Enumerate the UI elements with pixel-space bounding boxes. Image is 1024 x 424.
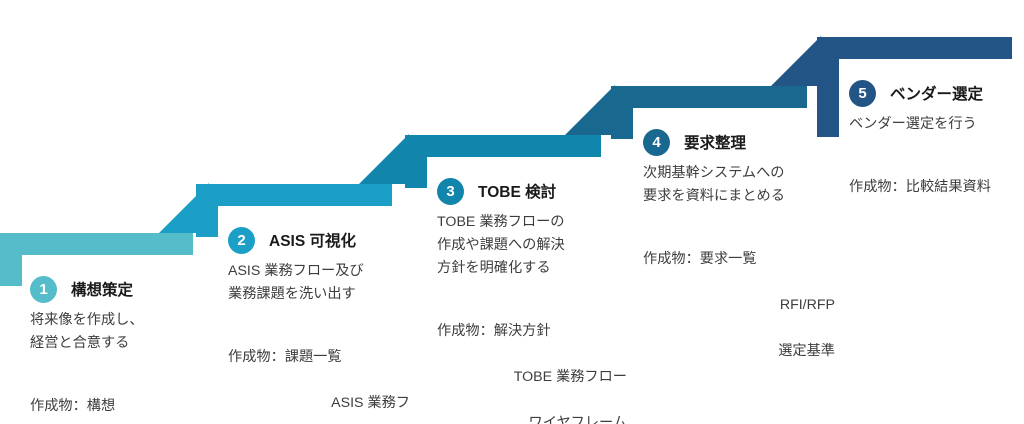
step-5-number-badge: 5 — [849, 80, 876, 107]
step-1-number-badge: 1 — [30, 276, 57, 303]
step-5-title: ベンダー選定 — [890, 82, 983, 104]
step-5-header: 5 ベンダー選定 — [849, 79, 1019, 107]
diagram-canvas: 1 構想策定 将来像を作成し、 経営と合意する 作成物：構想 PJ計画書 2 A… — [0, 0, 1024, 424]
step-5-description: ベンダー選定を行う — [849, 113, 1019, 136]
step-1-description: 将来像を作成し、 経営と合意する — [30, 309, 205, 355]
stage-3-to-4-arrowhead-icon — [565, 85, 615, 135]
step-3-deliverables: 作成物：解決方針 TOBE 業務フロー ワイヤフレーム — [437, 297, 627, 424]
step-3-number-badge: 3 — [437, 178, 464, 205]
step-3-deliverables-label: 作成物：解決方針 — [437, 320, 627, 343]
step-4-header: 4 要求整理 — [643, 128, 835, 156]
step-1-title: 構想策定 — [71, 278, 133, 300]
stage-4-vertical-bar — [611, 86, 633, 139]
step-1-deliverables-label: 作成物：構想 — [30, 395, 205, 418]
stage-4-horizontal-bar — [611, 86, 807, 108]
step-2-title: ASIS 可視化 — [269, 229, 356, 251]
step-3-header: 3 TOBE 検討 — [437, 177, 627, 205]
stage-3-horizontal-bar — [405, 135, 601, 157]
step-1-body: 1 構想策定 将来像を作成し、 経営と合意する 作成物：構想 PJ計画書 — [30, 275, 205, 424]
stage-4-to-5-arrowhead-icon — [771, 36, 821, 86]
step-4-number-badge: 4 — [643, 129, 670, 156]
step-5-deliverables-label: 作成物：比較結果資料 — [849, 176, 1019, 199]
step-2-body: 2 ASIS 可視化 ASIS 業務フロー及び 業務課題を洗い出す 作成物：課題… — [228, 226, 410, 424]
step-4-description: 次期基幹システムへの 要求を資料にまとめる — [643, 162, 835, 208]
stage-3-vertical-bar — [405, 135, 427, 188]
step-2-deliverables: 作成物：課題一覧 ASIS 業務フ ロー 社内制度まとめ — [228, 323, 410, 424]
step-3-description: TOBE 業務フローの 作成や課題への解決 方針を明確化する — [437, 211, 627, 280]
step-2-deliverable-item: ASIS 業務フ — [228, 392, 410, 415]
step-4-deliverable-item: RFI/RFP — [643, 294, 835, 317]
step-2-description: ASIS 業務フロー及び 業務課題を洗い出す — [228, 260, 410, 306]
step-3-title: TOBE 検討 — [478, 180, 556, 202]
step-5-deliverables: 作成物：比較結果資料 — [849, 153, 1019, 222]
stage-2-to-3-arrowhead-icon — [359, 134, 409, 184]
step-4-title: 要求整理 — [684, 131, 746, 153]
stage-1-vertical-bar — [0, 233, 22, 286]
step-4-deliverables: 作成物：要求一覧 RFI/RFP 選定基準 — [643, 225, 835, 386]
step-4-deliverables-label: 作成物：要求一覧 — [643, 248, 835, 271]
stage-5-vertical-bar — [817, 37, 839, 137]
step-3-deliverable-item: TOBE 業務フロー — [437, 366, 627, 389]
step-5-body: 5 ベンダー選定 ベンダー選定を行う 作成物：比較結果資料 — [849, 79, 1019, 222]
stage-2-vertical-bar — [196, 184, 218, 237]
step-2-deliverables-label: 作成物：課題一覧 — [228, 346, 410, 369]
stage-2-horizontal-bar — [196, 184, 392, 206]
step-3-deliverable-item: ワイヤフレーム — [437, 412, 627, 424]
step-1-deliverables: 作成物：構想 PJ計画書 — [30, 372, 205, 424]
stage-5-horizontal-bar — [817, 37, 1012, 59]
step-2-number-badge: 2 — [228, 227, 255, 254]
step-4-body: 4 要求整理 次期基幹システムへの 要求を資料にまとめる 作成物：要求一覧 RF… — [643, 128, 835, 386]
stage-1-horizontal-bar — [0, 233, 193, 255]
step-3-body: 3 TOBE 検討 TOBE 業務フローの 作成や課題への解決 方針を明確化する… — [437, 177, 627, 424]
step-2-header: 2 ASIS 可視化 — [228, 226, 410, 254]
step-4-deliverable-item: 選定基準 — [643, 340, 835, 363]
step-1-header: 1 構想策定 — [30, 275, 205, 303]
